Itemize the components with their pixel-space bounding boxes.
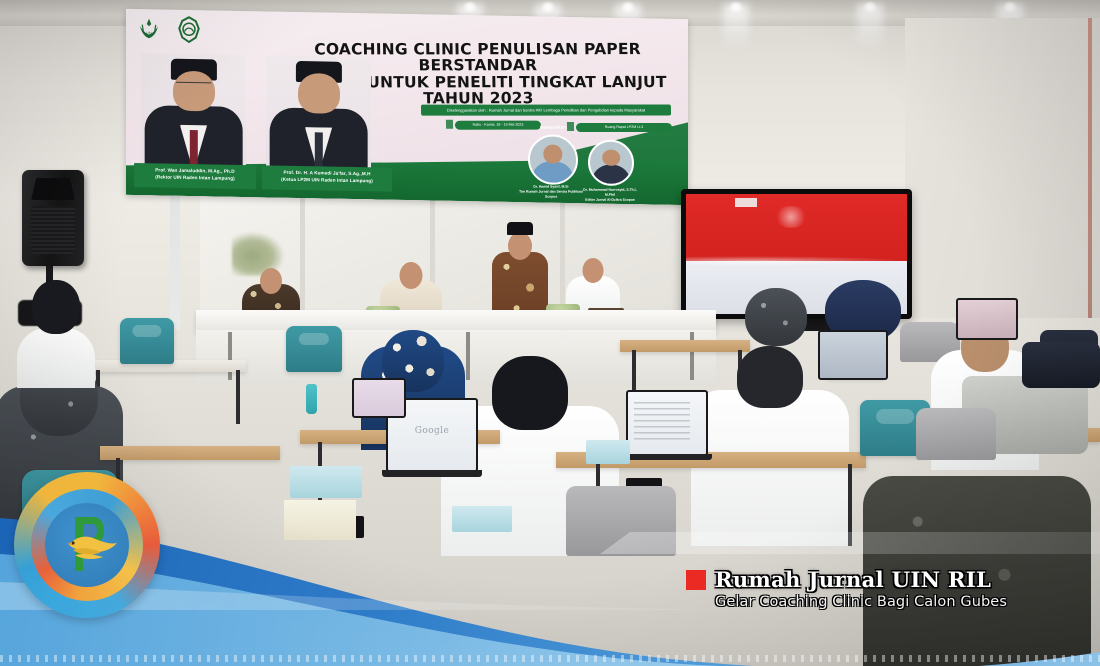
banner-narasumber-label: Narasumber [540,125,566,130]
banner-logos: UIN [134,14,204,45]
caption-headline: Rumah Jurnal UIN RIL [715,567,991,592]
laptop-right-tablet[interactable] [818,330,888,380]
banner-speaker-label-1: Dr. Hamid Syarif, M.Si Tim Rumah Jurnal … [518,185,584,199]
chair-back-left [120,318,174,364]
uin-raden-intan-logo: UIN [134,14,164,45]
accent-square-icon [686,570,706,590]
banner-organizer-strip: Diselenggarakan oleh : Rumah Jurnal dan … [421,104,671,115]
banner-portrait-ketua [266,55,371,175]
tissue-box-right [586,440,630,464]
lp2m-phoenix-emblem [14,472,160,618]
participant-left-middle [16,280,96,388]
banner-speaker-photo-1 [528,134,578,185]
banner-speaker-1-role: Tim Rumah Jurnal dan Sentra Publikasi Sc… [518,189,584,199]
chair-back-center [286,326,342,372]
lp2m-logo [174,15,204,46]
google-logo-text: Google [415,426,449,436]
calendar-icon [446,120,453,129]
water-bottle [306,384,317,414]
location-icon [567,122,574,131]
chair-frame-far-right[interactable] [916,408,996,460]
banner-speaker-label-2: Dr. Muhammad Nurrosyid, S.Th.I, M.Phil E… [578,188,642,202]
banner-speaker-photo-2 [588,139,634,186]
panel-table [196,310,716,332]
tissue-box-center [290,466,362,498]
svg-text:UIN: UIN [146,31,151,35]
banner-role-rektor-text: (Rektor UIN Raden Intan Lampung) [136,173,254,182]
flag-red-band [686,194,907,261]
banner-name-ketua: Prof. Dr. H. A Kumedi Ja'far, S.Ag.,M.H … [262,165,392,191]
chair-frame-center[interactable] [566,486,676,556]
photo-canvas: UIN COACHING CLINIC PENULISAN PAPER BERS… [0,0,1100,666]
event-banner: UIN COACHING CLINIC PENULISAN PAPER BERS… [126,9,688,205]
documents-stack [284,500,356,540]
laptop-bag [1022,342,1100,388]
laptop-back-left[interactable] [352,378,406,418]
desk-left-front [100,446,280,460]
wall-edge [1088,18,1092,318]
banner-role-ketua-text: (Ketua LP2M UIN Raden Intan Lampung) [264,175,390,184]
tissue-box-front [452,506,512,532]
banner-portrait-rektor [141,53,246,173]
pa-speaker [22,170,84,266]
banner-date-pill: Rabu - Kamis, 18 - 19 Mei 2023 [455,121,541,130]
banner-venue-pill: Ruang Rapat LP2M Lt.3 [576,123,672,132]
phoenix-bird-icon [63,531,119,563]
speaker-grille [31,206,75,254]
caption-subhead: Gelar Coaching Clinic Bagi Calon Gubes [715,594,1016,610]
banner-speaker-2-role: Editor Jurnal Al-Dzikra Scopus [578,197,642,202]
speaker-horn [31,178,75,200]
right-wall [905,18,1100,318]
caption-block: Rumah Jurnal UIN RIL Gelar Coaching Clin… [686,567,1016,610]
laptop-document[interactable] [626,390,708,456]
banner-name-rektor: Prof. Wan Jamaluddin, M.Ag., Ph.D (Rekto… [134,163,256,189]
participant-hijab-near-tv-1 [744,288,808,348]
laptop-far-right[interactable] [956,298,1018,340]
banner-speaker-2-name: Dr. Muhammad Nurrosyid, S.Th.I, M.Phil [578,188,642,198]
